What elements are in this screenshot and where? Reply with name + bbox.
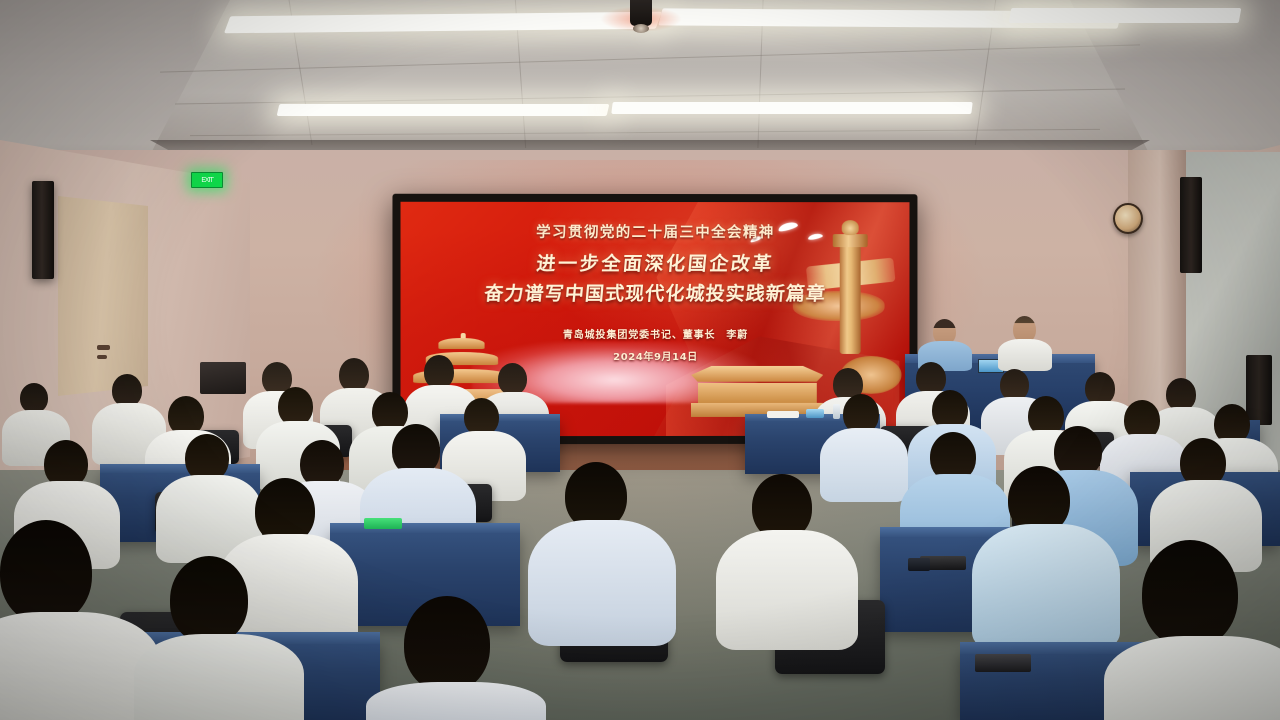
meeting-room-door[interactable]	[58, 196, 148, 396]
ceiling-light-panel	[277, 104, 610, 116]
monitor	[806, 409, 824, 418]
led-screen-text-block: 学习贯彻党的二十届三中全会精神 进一步全面深化国企改革 奋力谱写中国式现代化城投…	[401, 221, 910, 363]
wall-equipment-box	[200, 362, 246, 394]
ceiling-light-panel	[1009, 8, 1242, 23]
screen-main-line-2: 奋力谱写中国式现代化城投实践新篇章	[401, 279, 910, 306]
smartphone[interactable]	[364, 518, 402, 529]
tiananmen-gate-icon	[691, 363, 823, 417]
ceiling-light-panel	[611, 102, 972, 114]
screen-main-line-1: 进一步全面深化国企改革	[401, 249, 910, 276]
document-sheet	[767, 411, 799, 418]
desk-top	[440, 414, 560, 421]
desk-top	[100, 464, 260, 473]
screen-date: 2024年9月14日	[401, 348, 910, 363]
water-bottle	[833, 404, 840, 419]
screen-presenter: 青岛城投集团党委书记、董事长 李蔚	[401, 326, 910, 341]
wall-speaker-right	[1180, 177, 1202, 273]
desk-top	[330, 523, 520, 533]
wall-speaker-right-lower	[1246, 355, 1272, 425]
conference-room-photo: EXIT	[0, 0, 1280, 720]
ceiling-camera-icon	[630, 0, 652, 26]
exit-sign-label: EXIT	[201, 177, 213, 184]
screen-headline: 学习贯彻党的二十届三中全会精神	[401, 221, 910, 242]
camera-lens-icon	[633, 24, 649, 33]
door-lock-icon	[97, 355, 107, 359]
notebook	[908, 558, 930, 571]
smartphone[interactable]	[975, 654, 1031, 672]
wall-clock-icon	[1113, 203, 1143, 234]
door-handle-icon[interactable]	[97, 345, 110, 350]
exit-sign: EXIT	[191, 172, 223, 188]
wall-speaker-left	[32, 181, 54, 279]
